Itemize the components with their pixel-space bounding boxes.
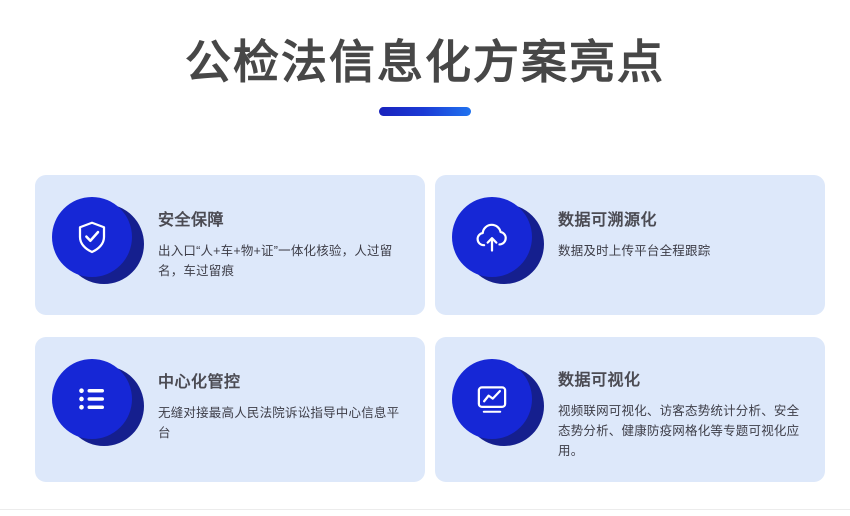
list-bullets-icon [74,381,110,417]
card-title: 数据可视化 [558,371,809,392]
page-title: 公检法信息化方案亮点 [0,36,850,89]
chart-monitor-icon [474,381,510,417]
icon-circle [52,359,132,439]
card-title: 数据可溯源化 [558,211,809,232]
page-root: 公检法信息化方案亮点 安全保障 出入口“人+车+物+证”一体化核验，人过留名，车… [0,0,850,516]
icon-circle [452,197,532,277]
highlight-card-central-control[interactable]: 中心化管控 无缝对接最高人民法院诉讼指导中心信息平台 [35,337,425,482]
title-underline-bar [379,107,471,116]
page-header: 公检法信息化方案亮点 [0,0,850,116]
card-title: 安全保障 [158,211,409,232]
card-description: 无缝对接最高人民法院诉讼指导中心信息平台 [158,403,409,444]
card-description: 数据及时上传平台全程跟踪 [558,241,809,261]
card-text: 数据可溯源化 数据及时上传平台全程跟踪 [544,193,809,261]
icon-circle [52,197,132,277]
icon-badge [452,197,544,289]
icon-badge [52,197,144,289]
highlight-card-traceability[interactable]: 数据可溯源化 数据及时上传平台全程跟踪 [435,175,825,315]
card-description: 视频联网可视化、访客态势统计分析、安全态势分析、健康防疫网格化等专题可视化应用。 [558,401,809,462]
shield-check-icon [74,219,110,255]
bottom-divider [0,509,850,510]
icon-badge [452,359,544,451]
highlight-card-security[interactable]: 安全保障 出入口“人+车+物+证”一体化核验，人过留名，车过留痕 [35,175,425,315]
icon-badge [52,359,144,451]
highlights-card-grid: 安全保障 出入口“人+车+物+证”一体化核验，人过留名，车过留痕 数据可溯源化 … [35,175,825,482]
card-text: 安全保障 出入口“人+车+物+证”一体化核验，人过留名，车过留痕 [144,193,409,281]
highlight-card-visualization[interactable]: 数据可视化 视频联网可视化、访客态势统计分析、安全态势分析、健康防疫网格化等专题… [435,337,825,482]
card-text: 数据可视化 视频联网可视化、访客态势统计分析、安全态势分析、健康防疫网格化等专题… [544,355,809,462]
card-text: 中心化管控 无缝对接最高人民法院诉讼指导中心信息平台 [144,355,409,443]
icon-circle [452,359,532,439]
card-description: 出入口“人+车+物+证”一体化核验，人过留名，车过留痕 [158,241,409,282]
cloud-upload-icon [474,219,510,255]
card-title: 中心化管控 [158,373,409,394]
